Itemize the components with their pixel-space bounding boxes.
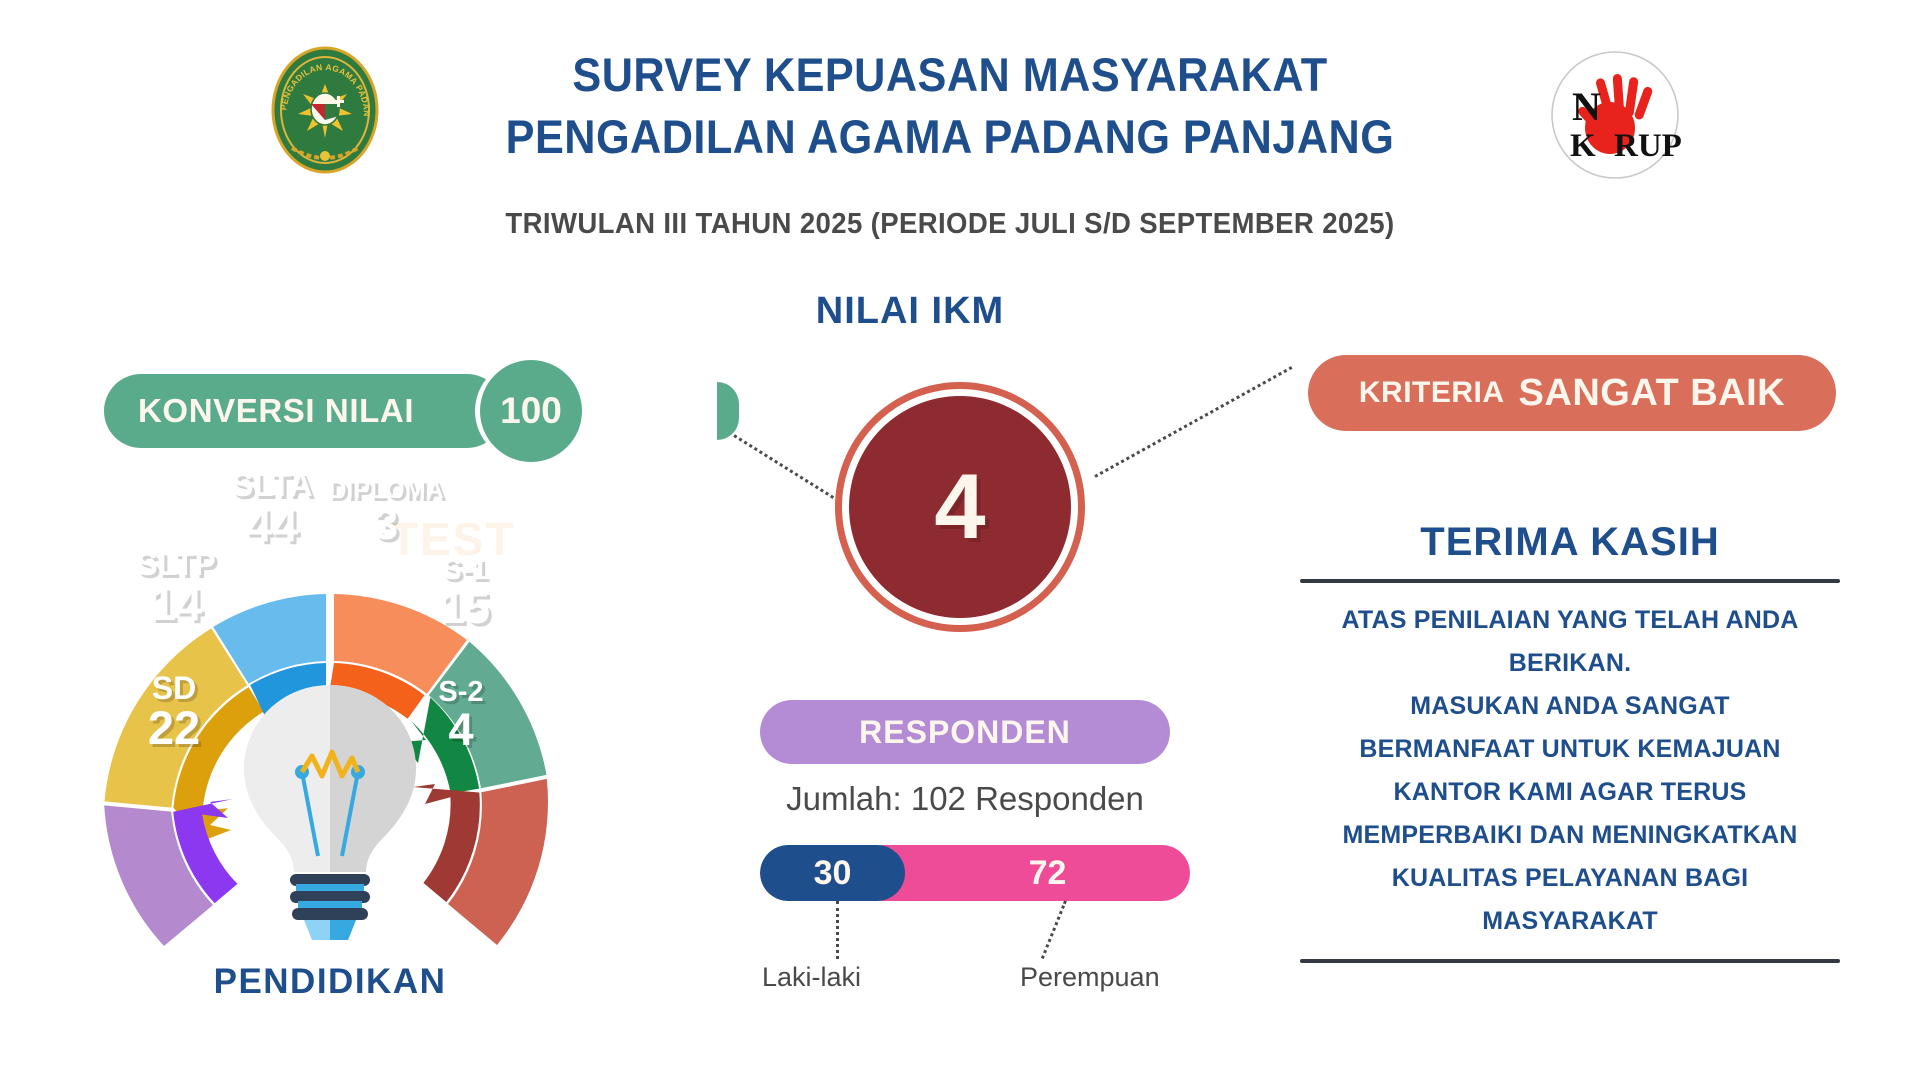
ikm-score-circle: 4 xyxy=(835,382,1085,632)
infographic-canvas: PENGADILAN AGAMA PADANG PANJANG xyxy=(0,0,1920,1080)
page-subtitle: TRIWULAN III TAHUN 2025 (PERIODE JULI S/… xyxy=(361,208,1539,241)
terima-kasih-line: ATAS PENILAIAN YANG TELAH ANDA xyxy=(1300,599,1840,642)
gender-female-caption: Perempuan xyxy=(1020,962,1160,993)
terima-kasih-line: MASYARAKAT xyxy=(1300,900,1840,943)
gender-bar-male: 30 xyxy=(760,845,905,901)
terima-kasih-block: TERIMA KASIH ATAS PENILAIAN YANG TELAH A… xyxy=(1300,520,1840,963)
terima-kasih-line: MEMPERBAIKI DAN MENINGKATKAN xyxy=(1300,814,1840,857)
connector-ikm-to-kriteria xyxy=(1094,366,1292,478)
gender-female-value: 72 xyxy=(1029,854,1067,893)
nilai-ikm-label: NILAI IKM xyxy=(700,290,1120,333)
lightbulb-icon xyxy=(244,685,416,940)
svg-text:RUPSI: RUPSI xyxy=(1614,128,1682,164)
gender-male-caption: Laki-laki xyxy=(762,962,861,993)
ikm-disc: 4 xyxy=(849,396,1071,618)
kriteria-pill: KRITERIA SANGAT BAIK xyxy=(1308,355,1836,431)
gender-male-value: 30 xyxy=(814,854,852,893)
terima-kasih-line: BERMANFAAT UNTUK KEMAJUAN xyxy=(1300,728,1840,771)
page-title: SURVEY KEPUASAN MASYARAKAT PENGADILAN AG… xyxy=(420,44,1480,168)
svg-text:K: K xyxy=(1570,128,1596,164)
leader-line-female xyxy=(1041,900,1067,959)
connector-konversi-to-ikm xyxy=(717,424,846,506)
terima-kasih-body: ATAS PENILAIAN YANG TELAH ANDA BERIKAN. … xyxy=(1300,599,1840,943)
leader-line-male xyxy=(836,901,839,959)
ikm-value: 4 xyxy=(934,461,985,553)
responden-pill: RESPONDEN xyxy=(760,700,1170,764)
konversi-tail xyxy=(717,382,739,440)
title-line-1: SURVEY KEPUASAN MASYARAKAT xyxy=(462,44,1437,106)
divider-bottom xyxy=(1300,959,1840,963)
pendidikan-donut-chart: SLTA 44 DIPLOMA 3 SLTP 14 S-1 15 SD 22 S… xyxy=(100,520,560,1000)
terima-kasih-heading: TERIMA KASIH xyxy=(1300,520,1840,565)
segment-sd xyxy=(104,799,237,946)
konversi-nilai-label: KONVERSI NILAI xyxy=(138,392,414,430)
gender-bar-female: 72 xyxy=(881,845,1190,901)
konversi-nilai-value: 100 xyxy=(500,390,562,432)
court-logo-icon: PENGADILAN AGAMA PADANG PANJANG xyxy=(266,44,384,176)
kriteria-value-label: SANGAT BAIK xyxy=(1519,372,1786,415)
divider-top xyxy=(1300,579,1840,583)
terima-kasih-line: KANTOR KAMI AGAR TERUS xyxy=(1300,771,1840,814)
pendidikan-caption: PENDIDIKAN xyxy=(100,962,560,1002)
responden-label: RESPONDEN xyxy=(859,714,1071,751)
title-line-2: PENGADILAN AGAMA PADANG PANJANG xyxy=(462,106,1437,168)
terima-kasih-line: KUALITAS PELAYANAN BAGI xyxy=(1300,857,1840,900)
terima-kasih-line: MASUKAN ANDA SANGAT xyxy=(1300,685,1840,728)
segment-s2 xyxy=(413,779,548,945)
no-korupsi-logo-icon: N K RUPSI xyxy=(1548,48,1682,182)
segment-name-slta: SLTA xyxy=(212,468,332,501)
terima-kasih-line: BERIKAN. xyxy=(1300,642,1840,685)
segment-name-diploma: DIPLOMA xyxy=(316,478,456,503)
konversi-nilai-pill: KONVERSI NILAI xyxy=(104,374,504,448)
responden-total-text: Jumlah: 102 Responden xyxy=(700,780,1230,818)
gender-distribution-bar: 30 72 xyxy=(760,845,1190,901)
konversi-nilai-badge: 100 xyxy=(480,360,582,462)
kriteria-prefix-label: KRITERIA xyxy=(1359,376,1505,410)
svg-text:N: N xyxy=(1572,84,1601,129)
